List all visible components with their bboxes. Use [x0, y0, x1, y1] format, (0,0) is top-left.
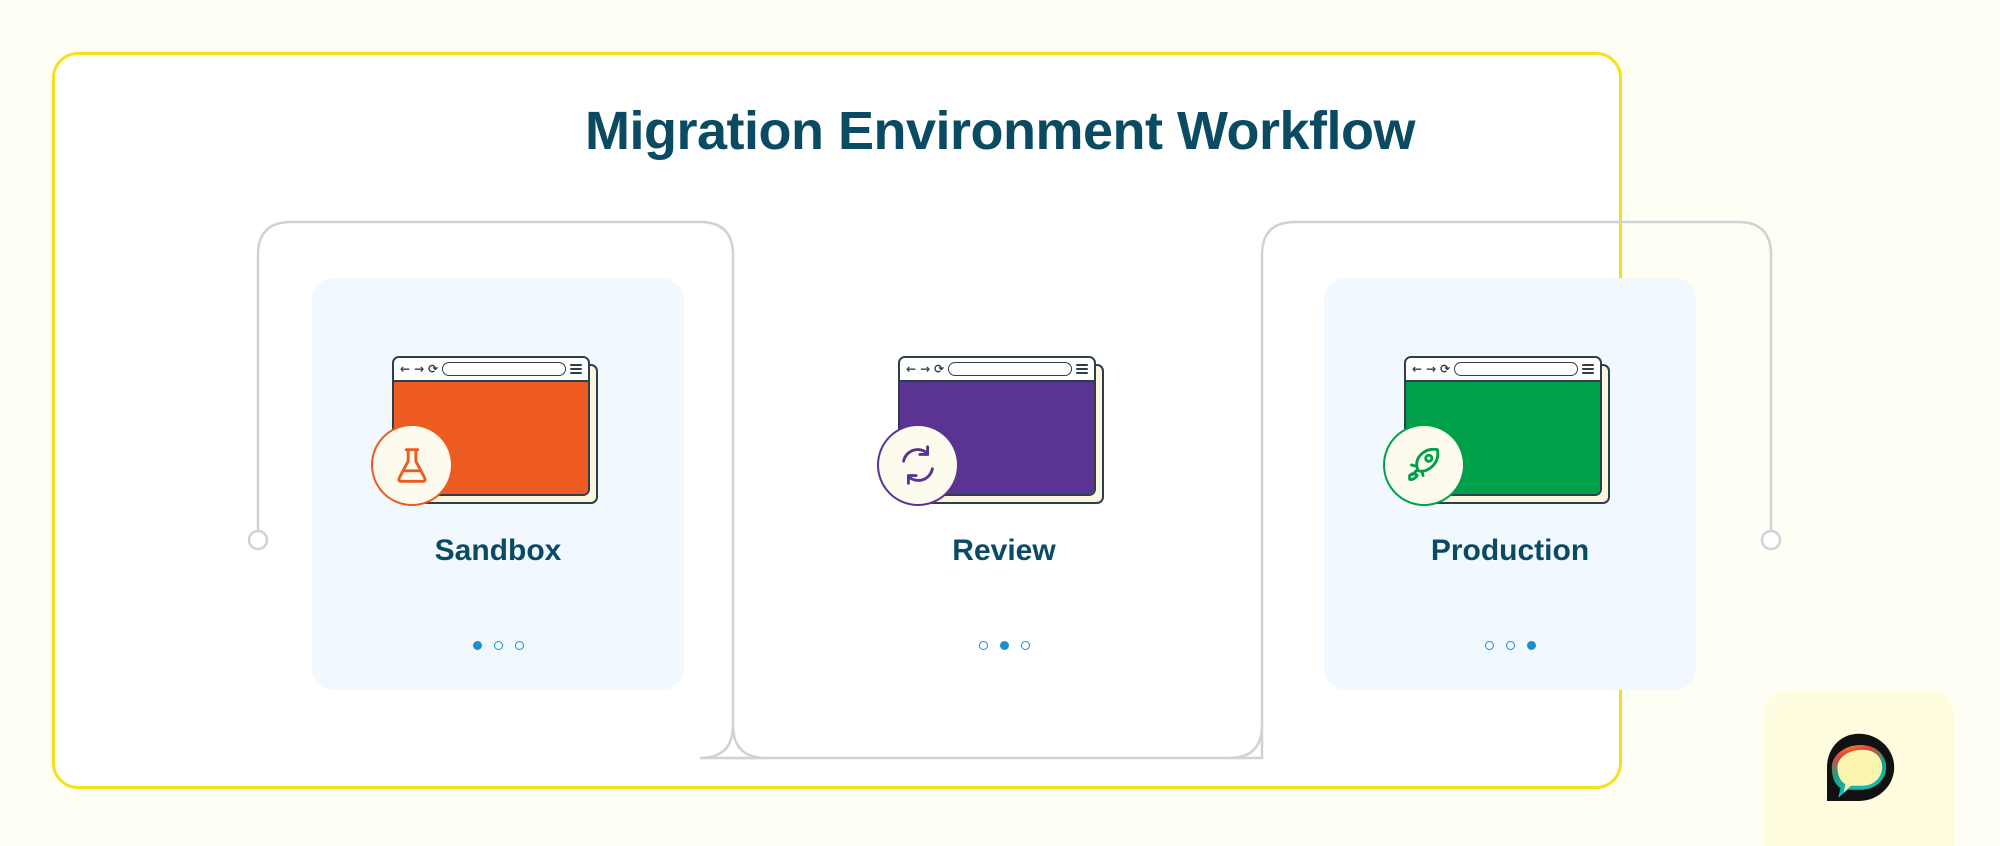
browser-chrome: ← → ⟳: [900, 358, 1094, 382]
chat-bubble-icon[interactable]: [1819, 729, 1899, 809]
pagination-dots-review[interactable]: [818, 641, 1190, 650]
hamburger-menu-icon[interactable]: [1582, 364, 1594, 374]
dot-2[interactable]: [494, 641, 503, 650]
workflow-infographic: Migration Environment Workflow ← → ⟳: [0, 0, 2000, 846]
badge-rocket: [1383, 424, 1465, 506]
url-bar[interactable]: [1454, 362, 1578, 376]
dot-3[interactable]: [1527, 641, 1536, 650]
back-arrow-icon[interactable]: ←: [1412, 363, 1422, 375]
back-arrow-icon[interactable]: ←: [400, 363, 410, 375]
pagination-dots-production[interactable]: [1324, 641, 1696, 650]
forward-arrow-icon[interactable]: →: [1426, 363, 1436, 375]
step-label-sandbox: Sandbox: [312, 534, 684, 568]
dot-1[interactable]: [979, 641, 988, 650]
dot-3[interactable]: [515, 641, 524, 650]
pagination-dots-sandbox[interactable]: [312, 641, 684, 650]
browser-chrome: ← → ⟳: [394, 358, 588, 382]
step-card-review[interactable]: ← → ⟳: [818, 278, 1190, 690]
hamburger-menu-icon[interactable]: [570, 364, 582, 374]
url-bar[interactable]: [442, 362, 566, 376]
badge-flask: [371, 424, 453, 506]
hamburger-menu-icon[interactable]: [1076, 364, 1088, 374]
forward-arrow-icon[interactable]: →: [920, 363, 930, 375]
badge-sync: [877, 424, 959, 506]
step-card-sandbox[interactable]: ← → ⟳ Sandbox: [312, 278, 684, 690]
rocket-icon: [1401, 442, 1447, 488]
reload-icon[interactable]: ⟳: [934, 363, 944, 375]
chat-widget[interactable]: [1764, 691, 1954, 846]
flask-icon: [389, 442, 435, 488]
dot-1[interactable]: [1485, 641, 1494, 650]
dot-2[interactable]: [1506, 641, 1515, 650]
back-arrow-icon[interactable]: ←: [906, 363, 916, 375]
forward-arrow-icon[interactable]: →: [414, 363, 424, 375]
step-card-production[interactable]: ← → ⟳: [1324, 278, 1696, 690]
step-label-review: Review: [818, 534, 1190, 568]
reload-icon[interactable]: ⟳: [428, 363, 438, 375]
url-bar[interactable]: [948, 362, 1072, 376]
steps-row: ← → ⟳ Sandbox: [0, 0, 2000, 846]
browser-chrome: ← → ⟳: [1406, 358, 1600, 382]
reload-icon[interactable]: ⟳: [1440, 363, 1450, 375]
dot-2[interactable]: [1000, 641, 1009, 650]
dot-1[interactable]: [473, 641, 482, 650]
sync-refresh-icon: [895, 442, 941, 488]
dot-3[interactable]: [1021, 641, 1030, 650]
step-label-production: Production: [1324, 534, 1696, 568]
